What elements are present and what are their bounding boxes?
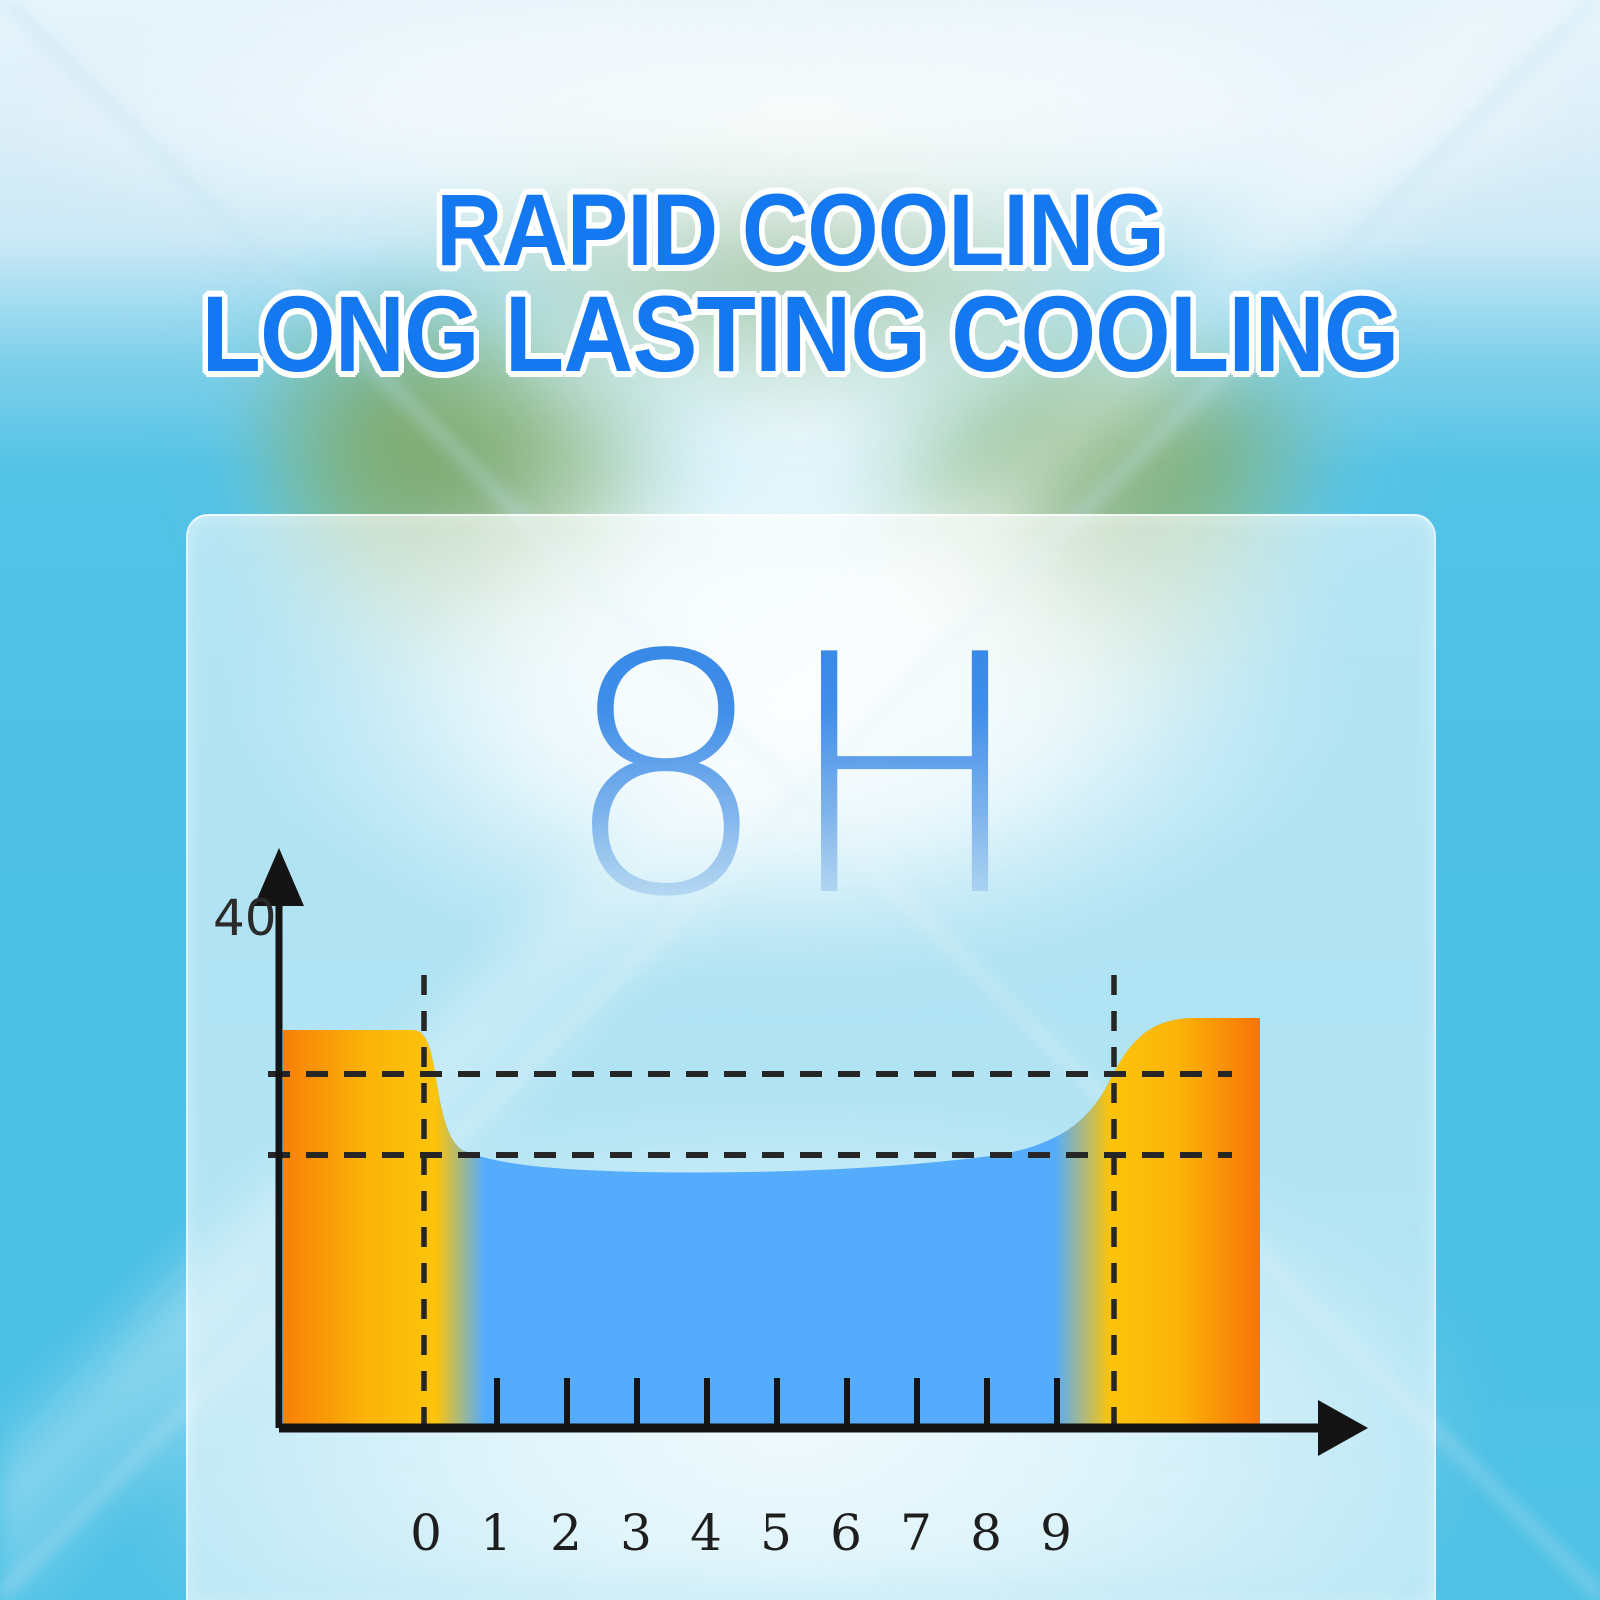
poster-canvas: RAPID COOLING LONG LASTING COOLING 8H: [0, 0, 1600, 1600]
glass-card-panel: [186, 514, 1436, 1600]
